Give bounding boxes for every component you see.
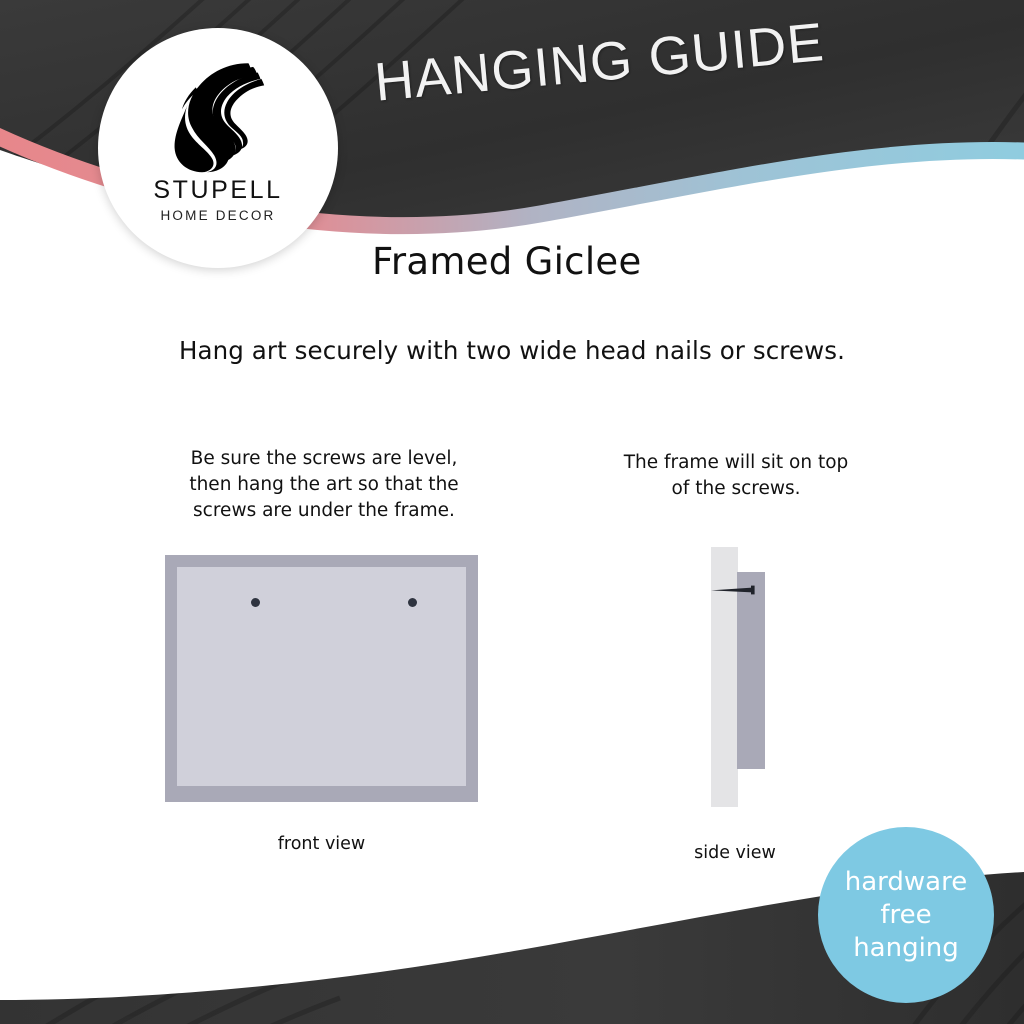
front-view-frame-diagram — [165, 555, 478, 802]
side-caption-line-2: of the screws. — [600, 476, 872, 502]
front-caption-line-3: screws are under the frame. — [156, 498, 492, 524]
front-view-caption: Be sure the screws are level, then hang … — [156, 446, 492, 524]
front-view-label: front view — [165, 834, 478, 854]
stupell-swirl-icon — [162, 54, 274, 174]
brand-tagline: HOME DECOR — [160, 208, 275, 223]
frame-edge — [737, 572, 765, 769]
nail-icon — [711, 585, 759, 595]
brand-logo-badge: STUPELL HOME DECOR — [98, 28, 338, 268]
screw-dot-left — [251, 598, 260, 607]
side-view-caption: The frame will sit on top of the screws. — [600, 450, 872, 502]
badge-line-3: hanging — [853, 932, 959, 965]
badge-line-1: hardware — [845, 866, 967, 899]
side-view-label: side view — [660, 843, 810, 863]
hardware-free-hanging-badge: hardware free hanging — [818, 827, 994, 1003]
hanging-guide-page: STUPELL HOME DECOR HANGING GUIDE Framed … — [0, 0, 1024, 1024]
lead-instruction: Hang art securely with two wide head nai… — [0, 336, 1024, 365]
frame-mat-area — [177, 567, 466, 786]
side-view-frame-diagram — [700, 540, 800, 815]
front-caption-line-1: Be sure the screws are level, — [156, 446, 492, 472]
page-title: HANGING GUIDE — [372, 11, 827, 114]
product-type-title: Framed Giclee — [372, 240, 642, 283]
screw-dot-right — [408, 598, 417, 607]
front-caption-line-2: then hang the art so that the — [156, 472, 492, 498]
badge-line-2: free — [880, 899, 931, 932]
brand-name: STUPELL — [153, 176, 282, 205]
side-caption-line-1: The frame will sit on top — [600, 450, 872, 476]
